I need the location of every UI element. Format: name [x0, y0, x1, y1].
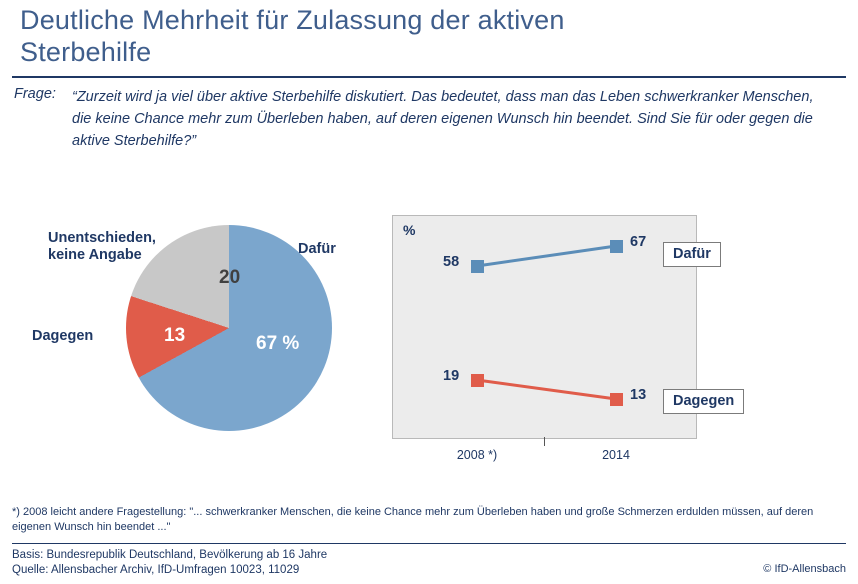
pie-label-dagegen: Dagegen: [32, 328, 93, 345]
pie-label-unentschieden-line2: keine Angabe: [48, 247, 142, 263]
pie-label-dafuer: Dafür: [298, 241, 336, 258]
source-basis: Basis: Bundesrepublik Deutschland, Bevöl…: [12, 548, 612, 563]
pie-label-unentschieden-line1: Unentschieden,: [48, 230, 156, 246]
pie-label-unentschieden: Unentschieden, keine Angabe: [48, 230, 156, 264]
question-label: Frage:: [14, 86, 56, 102]
callout-dagegen: Dagegen: [663, 389, 744, 414]
marker-dagegen-2008: [471, 374, 484, 387]
axis-label-2008: 2008 *): [437, 448, 517, 462]
pie-chart: Dafür Dagegen Unentschieden, keine Angab…: [20, 205, 380, 455]
source-quelle: Quelle: Allensbacher Archiv, IfD-Umfrage…: [12, 563, 612, 578]
pie-value-unentschieden: 20: [219, 267, 240, 289]
value-dafuer-2008: 58: [443, 254, 459, 270]
title-divider: [12, 76, 846, 78]
page-title: Deutliche Mehrheit für Zulassung der akt…: [20, 4, 640, 68]
pie-value-dagegen: 13: [164, 325, 185, 347]
footer-divider: [12, 543, 846, 544]
axis-label-2014: 2014: [576, 448, 656, 462]
copyright: © IfD-Allensbach: [763, 563, 846, 575]
line-chart-x-axis: 2008 *) 2014: [392, 437, 695, 469]
callout-dafuer: Dafür: [663, 242, 721, 267]
footnote: *) 2008 leicht andere Fragestellung: "..…: [12, 505, 832, 535]
value-dagegen-2008: 19: [443, 368, 459, 384]
source-block: Basis: Bundesrepublik Deutschland, Bevöl…: [12, 548, 612, 578]
value-dagegen-2014: 13: [630, 387, 646, 403]
pie-value-dafuer: 67 %: [256, 333, 299, 355]
marker-dafuer-2008: [471, 260, 484, 273]
marker-dagegen-2014: [610, 393, 623, 406]
line-chart: % 58 67 19 13: [392, 215, 697, 439]
axis-tick-mid: [544, 437, 545, 446]
question-text: “Zurzeit wird ja viel über aktive Sterbe…: [72, 86, 817, 152]
marker-dafuer-2014: [610, 240, 623, 253]
line-chart-lines: [393, 216, 696, 438]
value-dafuer-2014: 67: [630, 234, 646, 250]
